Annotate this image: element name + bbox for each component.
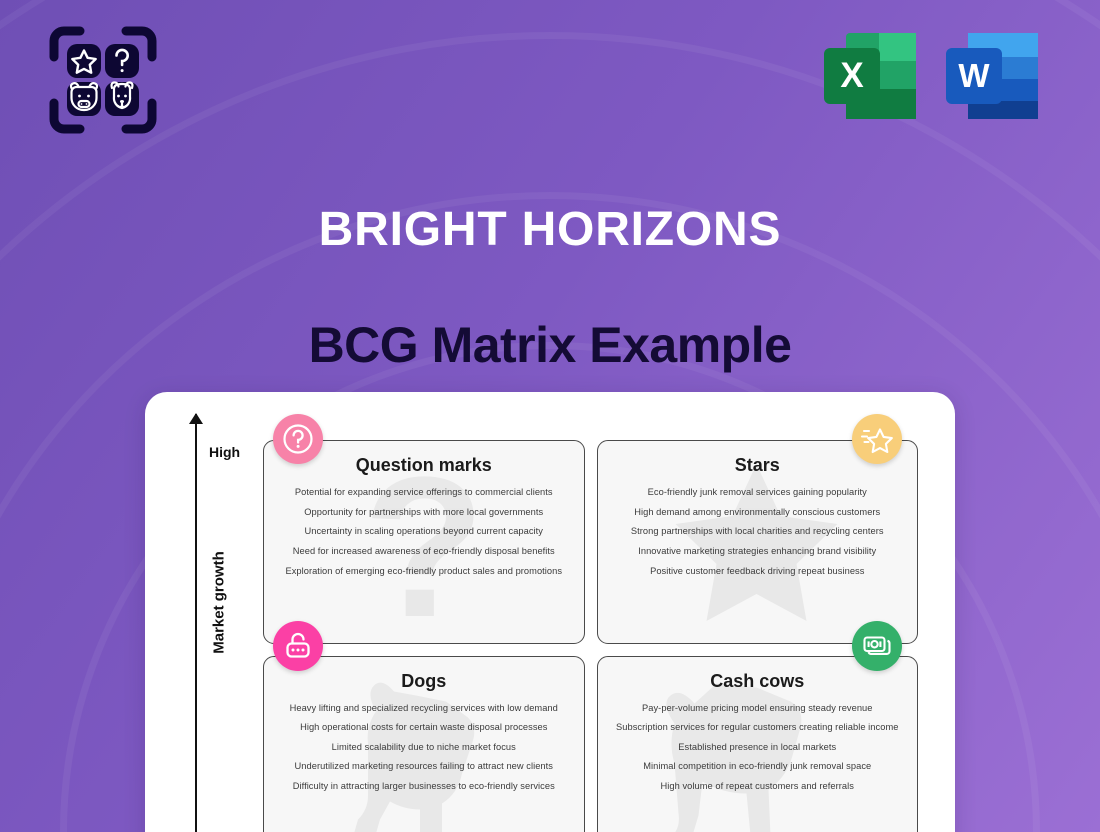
quadrant-item-list: Pay-per-volume pricing model ensuring st… bbox=[608, 703, 908, 801]
badge-stars[interactable] bbox=[852, 414, 902, 464]
axis-title: Market growth bbox=[211, 523, 228, 683]
quadrant-item-list: Heavy lifting and specialized recycling … bbox=[274, 703, 574, 801]
list-item: Uncertainty in scaling operations beyond… bbox=[274, 526, 574, 537]
bcg-matrix-card: High Market growth ? Question marks Pote… bbox=[145, 392, 955, 832]
list-item: High volume of repeat customers and refe… bbox=[608, 781, 908, 792]
list-item: Eco-friendly junk removal services gaini… bbox=[608, 487, 908, 498]
word-icon[interactable]: W bbox=[940, 27, 1045, 125]
list-item: Need for increased awareness of eco-frie… bbox=[274, 546, 574, 557]
quadrant-stars[interactable]: Stars Eco-friendly junk removal services… bbox=[597, 440, 919, 644]
list-item: Potential for expanding service offering… bbox=[274, 487, 574, 498]
list-item: Established presence in local markets bbox=[608, 742, 908, 753]
badge-cash-cows[interactable] bbox=[852, 621, 902, 671]
list-item: High demand among environmentally consci… bbox=[608, 507, 908, 518]
quadrant-question-marks[interactable]: ? Question marks Potential for expanding… bbox=[263, 440, 585, 644]
list-item: High operational costs for certain waste… bbox=[274, 722, 574, 733]
lock-icon bbox=[281, 629, 315, 663]
money-stack-icon bbox=[860, 629, 894, 663]
list-item: Positive customer feedback driving repea… bbox=[608, 566, 908, 577]
list-item: Opportunity for partnerships with more l… bbox=[274, 507, 574, 518]
list-item: Innovative marketing strategies enhancin… bbox=[608, 546, 908, 557]
slide-canvas: X W BRIGHT HORIZONS BCG Matrix Example H… bbox=[0, 0, 1100, 832]
quadrant-title: Dogs bbox=[401, 671, 446, 692]
bcg-matrix-logo bbox=[48, 25, 158, 135]
page-title: BCG Matrix Example bbox=[0, 317, 1100, 373]
list-item: Heavy lifting and specialized recycling … bbox=[274, 703, 574, 714]
list-item: Limited scalability due to niche market … bbox=[274, 742, 574, 753]
quadrant-grid: ? Question marks Potential for expanding… bbox=[263, 440, 918, 832]
list-item: Underutilized marketing resources failin… bbox=[274, 761, 574, 772]
quadrant-item-list: Potential for expanding service offering… bbox=[274, 487, 574, 585]
svg-text:X: X bbox=[840, 56, 864, 95]
quadrant-title: Stars bbox=[735, 455, 780, 476]
question-mark-icon bbox=[281, 422, 315, 456]
quadrant-title: Cash cows bbox=[710, 671, 804, 692]
market-growth-axis: High Market growth bbox=[178, 414, 248, 832]
list-item: Strong partnerships with local charities… bbox=[608, 526, 908, 537]
shooting-star-icon bbox=[859, 421, 895, 457]
list-item: Subscription services for regular custom… bbox=[608, 722, 908, 733]
quadrant-title: Question marks bbox=[356, 455, 492, 476]
axis-high-label: High bbox=[209, 444, 240, 460]
list-item: Minimal competition in eco-friendly junk… bbox=[608, 761, 908, 772]
badge-dogs[interactable] bbox=[273, 621, 323, 671]
quadrant-cash-cows[interactable]: Cash cows Pay-per-volume pricing model e… bbox=[597, 656, 919, 832]
list-item: Pay-per-volume pricing model ensuring st… bbox=[608, 703, 908, 714]
brand-title: BRIGHT HORIZONS bbox=[0, 206, 1100, 254]
excel-icon[interactable]: X bbox=[818, 27, 923, 125]
list-item: Exploration of emerging eco-friendly pro… bbox=[274, 566, 574, 577]
svg-text:W: W bbox=[958, 57, 990, 94]
badge-question-marks[interactable] bbox=[273, 414, 323, 464]
quadrant-item-list: Eco-friendly junk removal services gaini… bbox=[608, 487, 908, 585]
axis-line bbox=[195, 414, 197, 832]
list-item: Difficulty in attracting larger business… bbox=[274, 781, 574, 792]
quadrant-dogs[interactable]: Dogs Heavy lifting and specialized recyc… bbox=[263, 656, 585, 832]
